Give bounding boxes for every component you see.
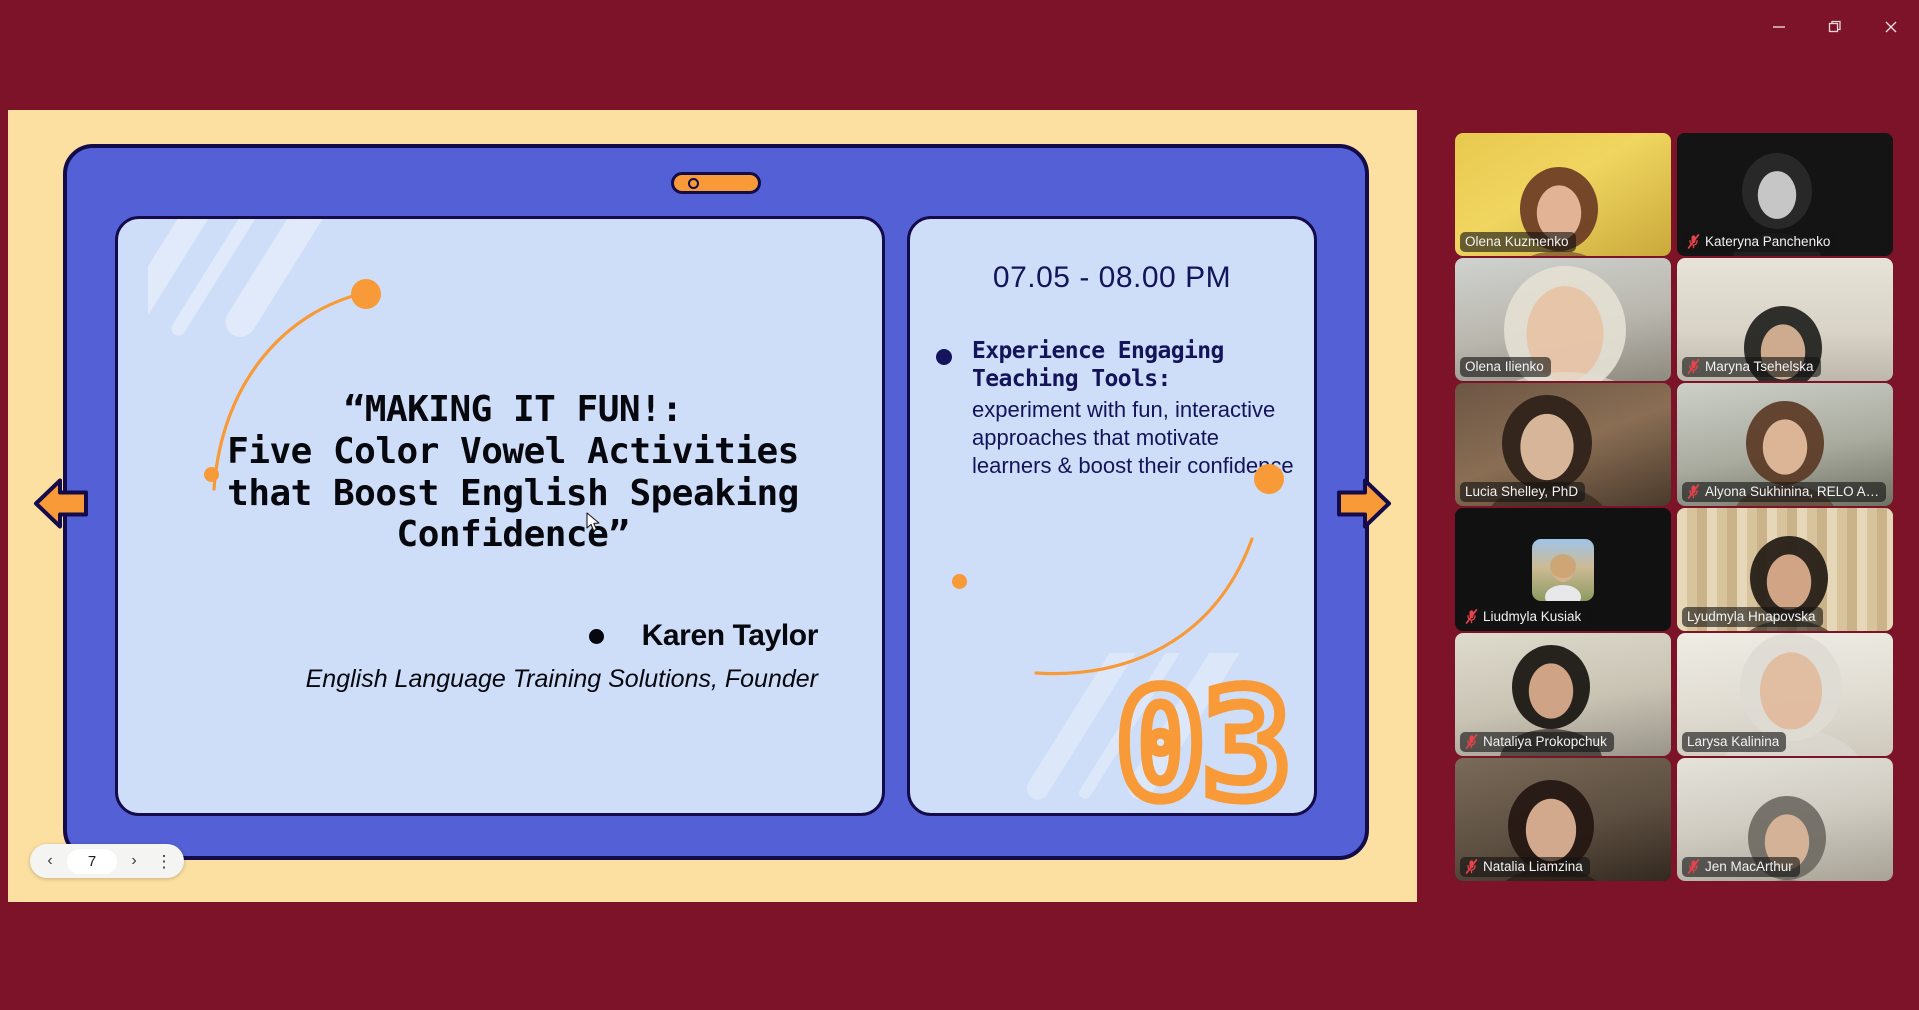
participant-tile[interactable]: Olena Ilienko [1455, 258, 1671, 381]
participant-name-label: Olena Kuzmenko [1460, 232, 1576, 252]
presenter-subtitle: English Language Training Solutions, Fou… [258, 663, 818, 696]
participant-tile[interactable]: Larysa Kalinina [1677, 633, 1893, 756]
participant-video-grid: Olena KuzmenkoKateryna PanchenkoOlena Il… [1455, 133, 1895, 883]
participant-tile[interactable]: Lyudmyla Hnapovska [1677, 508, 1893, 631]
presenter-name: Karen Taylor [642, 619, 818, 653]
participant-name: Liudmyla Kusiak [1483, 609, 1581, 624]
participant-name: Natalia Liamzina [1483, 859, 1583, 874]
participant-name-label: Maryna Tsehelska [1682, 357, 1821, 377]
participant-name-label: Lyudmyla Hnapovska [1682, 607, 1823, 627]
mic-muted-icon [1465, 609, 1478, 624]
bullet-body: experiment with fun, interactive approac… [972, 396, 1296, 480]
participant-tile[interactable]: Alyona Sukhinina, RELO A… [1677, 383, 1893, 506]
participant-name-label: Alyona Sukhinina, RELO A… [1682, 482, 1886, 502]
restore-button[interactable] [1807, 7, 1863, 47]
app-window: “MAKING IT FUN!: Five Color Vowel Activi… [0, 0, 1919, 1010]
presenter-bullet-icon [589, 629, 604, 644]
participant-name-label: Kateryna Panchenko [1682, 232, 1837, 252]
participant-name-label: Lucia Shelley, PhD [1460, 482, 1585, 502]
participant-tile[interactable]: Jen MacArthur [1677, 758, 1893, 881]
pager-next-button[interactable]: › [121, 848, 147, 874]
next-slide-arrow[interactable] [1333, 473, 1395, 540]
participant-name: Kateryna Panchenko [1705, 234, 1830, 249]
participant-avatar [1532, 539, 1594, 601]
pager-prev-button[interactable]: ‹ [37, 848, 63, 874]
laptop-frame-graphic: “MAKING IT FUN!: Five Color Vowel Activi… [63, 144, 1369, 860]
arrow-left-icon [30, 473, 92, 535]
mic-muted-icon [1465, 734, 1478, 749]
mic-muted-icon [1687, 484, 1700, 499]
mic-muted-icon [1465, 859, 1478, 874]
participant-name-label: Liudmyla Kusiak [1460, 607, 1588, 627]
participant-tile[interactable]: Kateryna Panchenko [1677, 133, 1893, 256]
close-button[interactable] [1863, 7, 1919, 47]
bullet-icon [936, 349, 952, 365]
mic-muted-icon [1687, 234, 1700, 249]
participant-name: Lyudmyla Hnapovska [1687, 609, 1816, 624]
laptop-camera-notch-icon [671, 172, 761, 194]
participant-tile[interactable]: Olena Kuzmenko [1455, 133, 1671, 256]
slide-panels: “MAKING IT FUN!: Five Color Vowel Activi… [115, 216, 1317, 816]
participant-name: Olena Ilienko [1465, 359, 1544, 374]
slide-panel-details: 07.05 - 08.00 PM Experience Engaging Tea… [907, 216, 1317, 816]
window-controls [1751, 0, 1919, 54]
slide-number-graphic: 03 [1115, 671, 1288, 816]
participant-tile[interactable]: Lucia Shelley, PhD [1455, 383, 1671, 506]
arrow-right-icon [1333, 473, 1395, 535]
participant-name-label: Natalia Liamzina [1460, 857, 1590, 877]
slide-panel-title: “MAKING IT FUN!: Five Color Vowel Activi… [115, 216, 885, 816]
previous-slide-arrow[interactable] [30, 473, 92, 540]
accent-dot-small-2 [952, 574, 967, 589]
participant-name-label: Jen MacArthur [1682, 857, 1800, 877]
participant-name-label: Olena Ilienko [1460, 357, 1551, 377]
participant-tile[interactable]: Liudmyla Kusiak [1455, 508, 1671, 631]
slide-bullet-item: Experience Engaging Teaching Tools: expe… [936, 337, 1296, 481]
shared-screen-slide: “MAKING IT FUN!: Five Color Vowel Activi… [8, 110, 1417, 902]
bullet-heading: Experience Engaging Teaching Tools: [972, 337, 1296, 393]
slide-title: “MAKING IT FUN!: Five Color Vowel Activi… [178, 389, 848, 556]
pager-page-number[interactable]: 7 [67, 849, 117, 874]
mic-muted-icon [1687, 859, 1700, 874]
slide-pager: ‹ 7 › ⋮ [30, 844, 184, 878]
participant-name: Nataliya Prokopchuk [1483, 734, 1607, 749]
participant-name: Jen MacArthur [1705, 859, 1793, 874]
session-time: 07.05 - 08.00 PM [910, 261, 1314, 295]
camera-lens-icon [688, 178, 699, 189]
participant-name-label: Larysa Kalinina [1682, 732, 1786, 752]
mouse-cursor-icon [586, 512, 602, 534]
participant-name: Lucia Shelley, PhD [1465, 484, 1578, 499]
accent-dot-large [351, 279, 381, 309]
mic-muted-icon [1687, 359, 1700, 374]
pager-more-menu-icon[interactable]: ⋮ [151, 848, 177, 874]
participant-name: Alyona Sukhinina, RELO A… [1705, 484, 1879, 499]
participant-tile[interactable]: Nataliya Prokopchuk [1455, 633, 1671, 756]
participant-name: Olena Kuzmenko [1465, 234, 1569, 249]
participant-name: Maryna Tsehelska [1705, 359, 1814, 374]
participant-tile[interactable]: Maryna Tsehelska [1677, 258, 1893, 381]
participant-name: Larysa Kalinina [1687, 734, 1779, 749]
minimize-button[interactable] [1751, 7, 1807, 47]
presenter-row: Karen Taylor [589, 619, 818, 653]
sheen-decoration [148, 219, 478, 369]
participant-tile[interactable]: Natalia Liamzina [1455, 758, 1671, 881]
participant-name-label: Nataliya Prokopchuk [1460, 732, 1614, 752]
